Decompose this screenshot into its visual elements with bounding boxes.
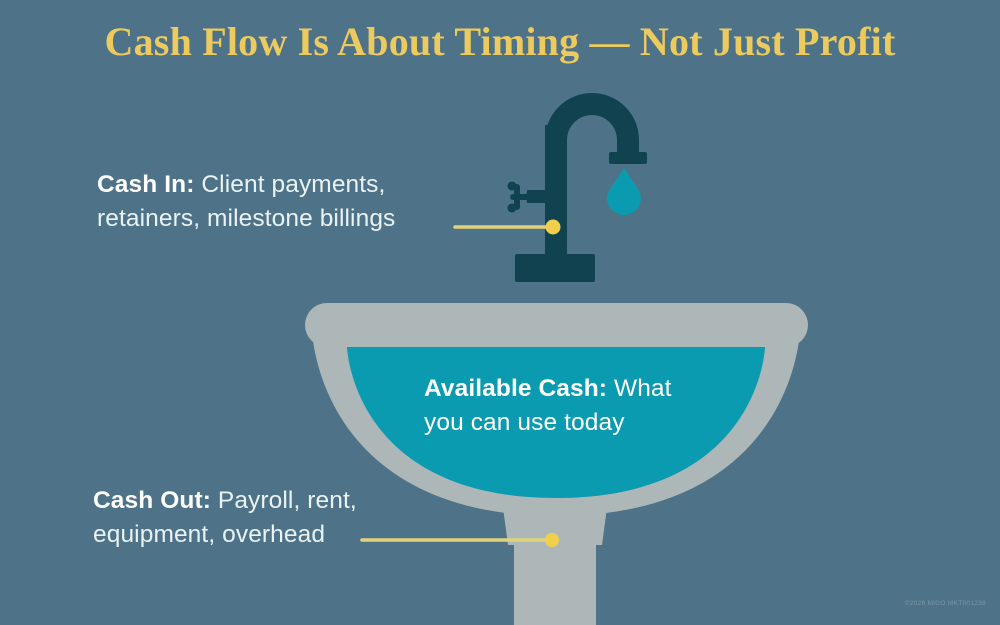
callout-cash-in-line2: retainers, milestone billings bbox=[97, 205, 395, 232]
callout-available-cash-lead: Available Cash: bbox=[424, 375, 607, 402]
callout-cash-out-line1: Payroll, rent, bbox=[211, 487, 357, 514]
callout-available-cash: Available Cash: What you can use today bbox=[424, 372, 714, 441]
callout-cash-in-lead: Cash In: bbox=[97, 171, 194, 198]
water-drop-icon bbox=[607, 168, 641, 215]
callout-cash-out-lead: Cash Out: bbox=[93, 487, 211, 514]
callout-cash-out: Cash Out: Payroll, rent, equipment, over… bbox=[93, 484, 473, 552]
callout-cash-out-line2: equipment, overhead bbox=[93, 521, 325, 548]
callout-cash-in-line1: Client payments, bbox=[194, 171, 385, 198]
infographic-slide: Cash Flow Is About Timing — Not Just Pro… bbox=[0, 0, 1000, 625]
copyright-watermark: ©2026 MiGO MKT001238 bbox=[905, 600, 986, 607]
callout-cash-in: Cash In: Client payments, retainers, mil… bbox=[97, 168, 477, 236]
sink-rim bbox=[305, 303, 808, 347]
